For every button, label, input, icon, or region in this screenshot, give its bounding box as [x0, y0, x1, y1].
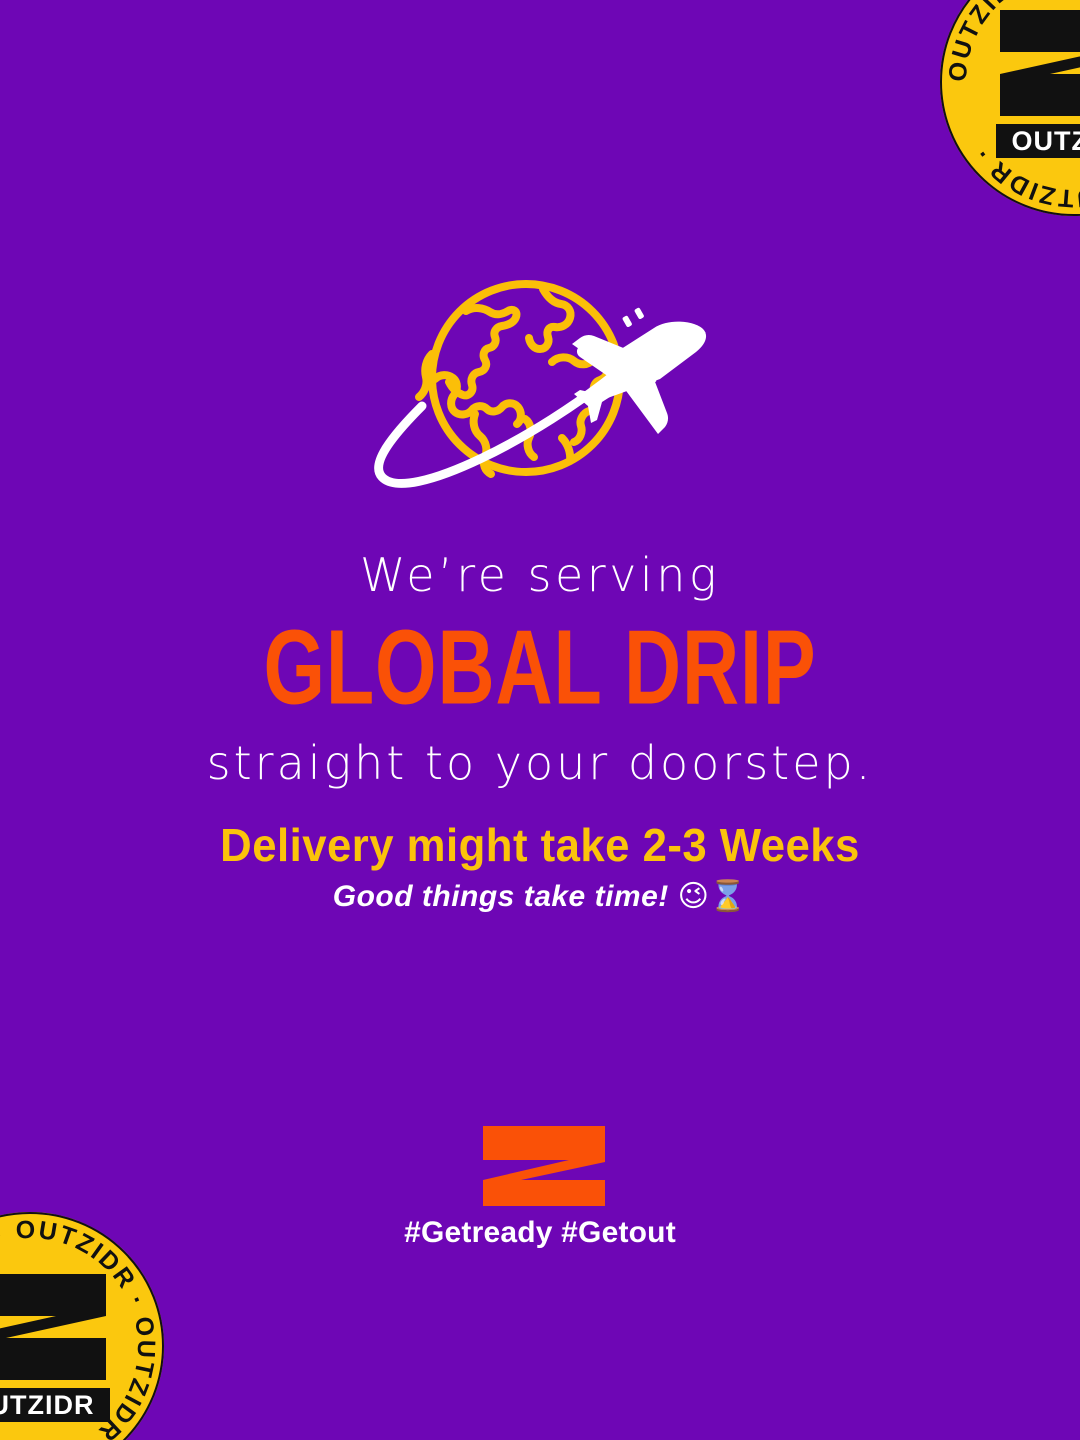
seal-wordmark-text: OUTZIDR — [0, 1390, 94, 1420]
delivery-notice: Delivery might take 2-3 Weeks — [27, 822, 1053, 868]
serving-line: We’re serving — [0, 552, 1080, 598]
poster-canvas: We’re serving GLOBAL DRIP straight to yo… — [0, 0, 1080, 1440]
outzidr-seal-top-right: OUTZIDR · OUTZIDR · OUTZIDR · OUTZIDR · … — [940, 0, 1080, 216]
delivery-subnote-text: Good things take time! — [333, 880, 669, 913]
delivery-subnote: Good things take time! 😉⌛ — [0, 882, 1080, 912]
seal-wordmark-text: OUTZIDR — [1012, 126, 1080, 156]
page-title: GLOBAL DRIP — [76, 615, 1005, 721]
globe-airplane-illustration — [362, 278, 712, 510]
headline-block: We’re serving GLOBAL DRIP straight to yo… — [0, 552, 1080, 786]
seal-wordmark: OUTZIDR — [0, 1388, 110, 1422]
wink-hourglass-emoji: 😉⌛ — [678, 879, 748, 914]
outzidr-z-logo — [481, 1124, 607, 1208]
globe-icon — [419, 284, 620, 474]
doorstep-line: straight to your doorstep. — [0, 740, 1080, 786]
seal-wordmark: OUTZIDR — [996, 124, 1080, 158]
airplane-icon — [572, 307, 706, 434]
outzidr-seal-bottom-left: OUTZIDR · OUTZIDR · OUTZIDR · OUTZIDR · … — [0, 1212, 164, 1440]
